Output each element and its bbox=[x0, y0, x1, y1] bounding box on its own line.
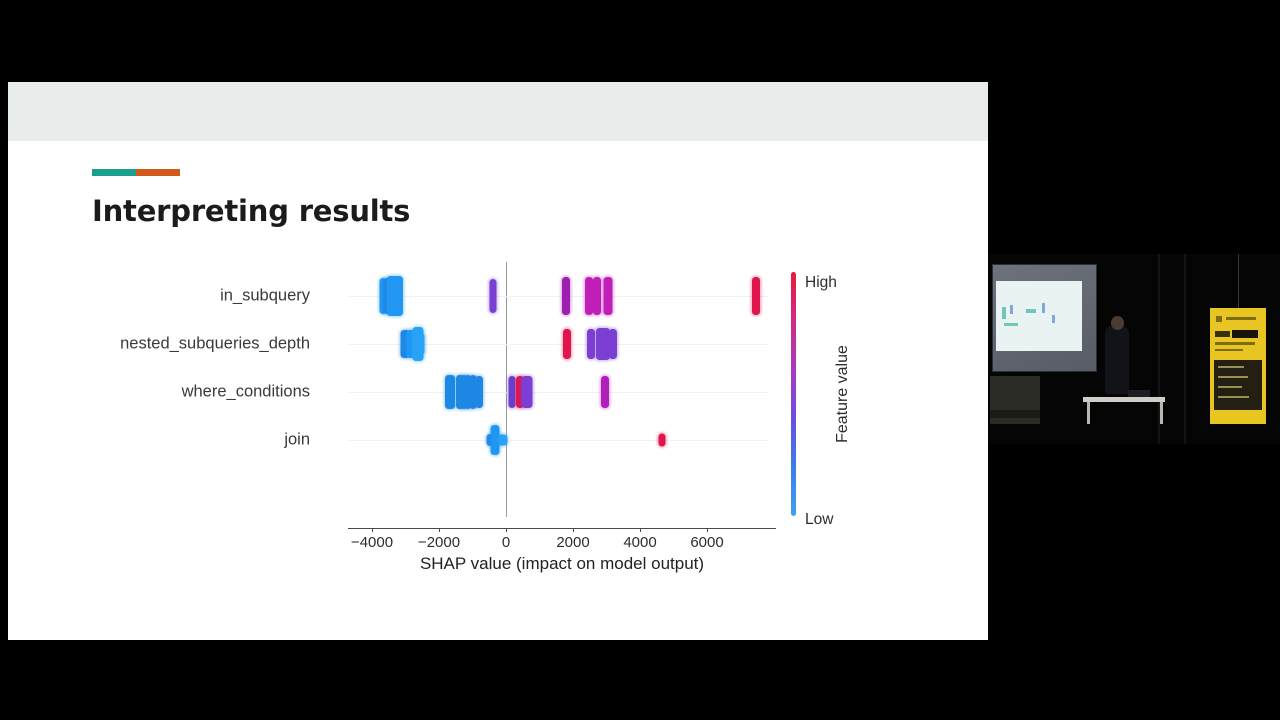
shap-summary-chart: in_subquerynested_subqueries_depthwhere_… bbox=[8, 82, 988, 640]
shap-point bbox=[587, 329, 595, 359]
shap-point bbox=[593, 277, 601, 315]
shap-point bbox=[498, 435, 507, 446]
projected-mark bbox=[1052, 315, 1055, 323]
shap-point bbox=[603, 277, 612, 315]
projected-mark bbox=[1026, 309, 1036, 313]
x-axis-title: SHAP value (impact on model output) bbox=[348, 554, 776, 574]
row-baseline bbox=[348, 392, 768, 393]
banner-text-line bbox=[1226, 317, 1256, 320]
banner-checklist-item bbox=[1218, 386, 1242, 388]
row-baseline bbox=[348, 440, 768, 441]
sponsor-banner bbox=[1210, 308, 1266, 424]
x-tick bbox=[573, 528, 574, 532]
feature-label-in-subquery: in_subquery bbox=[220, 287, 310, 306]
speaker-silhouette bbox=[1105, 326, 1129, 394]
x-axis-line bbox=[348, 528, 776, 529]
banner-checklist-item bbox=[1218, 396, 1249, 398]
table-leg bbox=[1160, 402, 1163, 424]
projected-mark bbox=[1010, 305, 1013, 314]
x-tick-label: 2000 bbox=[556, 534, 589, 551]
projected-mark bbox=[1002, 307, 1006, 319]
shap-point bbox=[752, 277, 760, 315]
projected-mark bbox=[1004, 323, 1018, 326]
banner-text-line bbox=[1215, 331, 1230, 337]
wall-caption-strip bbox=[990, 410, 1040, 418]
shap-point bbox=[387, 276, 403, 316]
conference-room-scene bbox=[988, 254, 1280, 444]
colorbar-title: Feature value bbox=[834, 345, 852, 443]
screen-root: Interpreting results in_subquerynested_s… bbox=[0, 0, 1280, 720]
shap-point bbox=[601, 376, 609, 408]
laptop bbox=[1128, 390, 1150, 397]
banner-checklist-item bbox=[1218, 376, 1248, 378]
x-tick bbox=[439, 528, 440, 532]
colorbar-low-label: Low bbox=[805, 511, 833, 529]
shap-point bbox=[585, 277, 593, 315]
shap-point bbox=[659, 434, 666, 447]
projection-screen bbox=[992, 264, 1097, 372]
banner-highlight bbox=[1232, 330, 1258, 338]
shap-point bbox=[416, 333, 425, 355]
shap-point bbox=[609, 329, 617, 359]
banner-rope bbox=[1238, 254, 1239, 308]
shap-point bbox=[445, 375, 455, 409]
x-tick-label: 0 bbox=[502, 534, 510, 551]
projected-slide bbox=[996, 281, 1082, 351]
table-leg bbox=[1087, 402, 1090, 424]
feature-label-join: join bbox=[284, 431, 310, 450]
x-tick bbox=[372, 528, 373, 532]
banner-checklist-item bbox=[1218, 366, 1244, 368]
colorbar-high-label: High bbox=[805, 274, 837, 292]
projected-mark bbox=[1042, 303, 1045, 313]
curtain-seam bbox=[1184, 254, 1186, 444]
feature-label-nested-subqueries-depth: nested_subqueries_depth bbox=[120, 335, 310, 354]
banner-text-line bbox=[1215, 349, 1243, 351]
feature-label-where-conditions: where_conditions bbox=[182, 383, 310, 402]
shap-point bbox=[562, 277, 570, 315]
shap-point bbox=[475, 376, 483, 408]
x-tick-label: 4000 bbox=[623, 534, 656, 551]
banner-checklist-box bbox=[1214, 360, 1262, 410]
row-baseline bbox=[348, 296, 768, 297]
speaker-head bbox=[1111, 316, 1124, 330]
x-tick bbox=[707, 528, 708, 532]
x-tick-label: −2000 bbox=[418, 534, 460, 551]
x-tick-label: 6000 bbox=[690, 534, 723, 551]
shap-point bbox=[490, 279, 497, 313]
x-tick-label: −4000 bbox=[351, 534, 393, 551]
presentation-slide: Interpreting results in_subquerynested_s… bbox=[8, 82, 988, 640]
shap-point bbox=[522, 376, 533, 408]
presenter-table bbox=[1083, 397, 1165, 402]
shap-point bbox=[509, 376, 516, 408]
banner-text-line bbox=[1215, 342, 1255, 345]
x-tick bbox=[640, 528, 641, 532]
x-tick bbox=[506, 528, 507, 532]
shap-point bbox=[563, 329, 571, 359]
plot-area bbox=[348, 272, 768, 517]
colorbar bbox=[791, 272, 796, 516]
zero-reference-line bbox=[506, 262, 507, 517]
banner-logo bbox=[1216, 316, 1222, 322]
speaker-video-feed bbox=[988, 82, 1280, 640]
